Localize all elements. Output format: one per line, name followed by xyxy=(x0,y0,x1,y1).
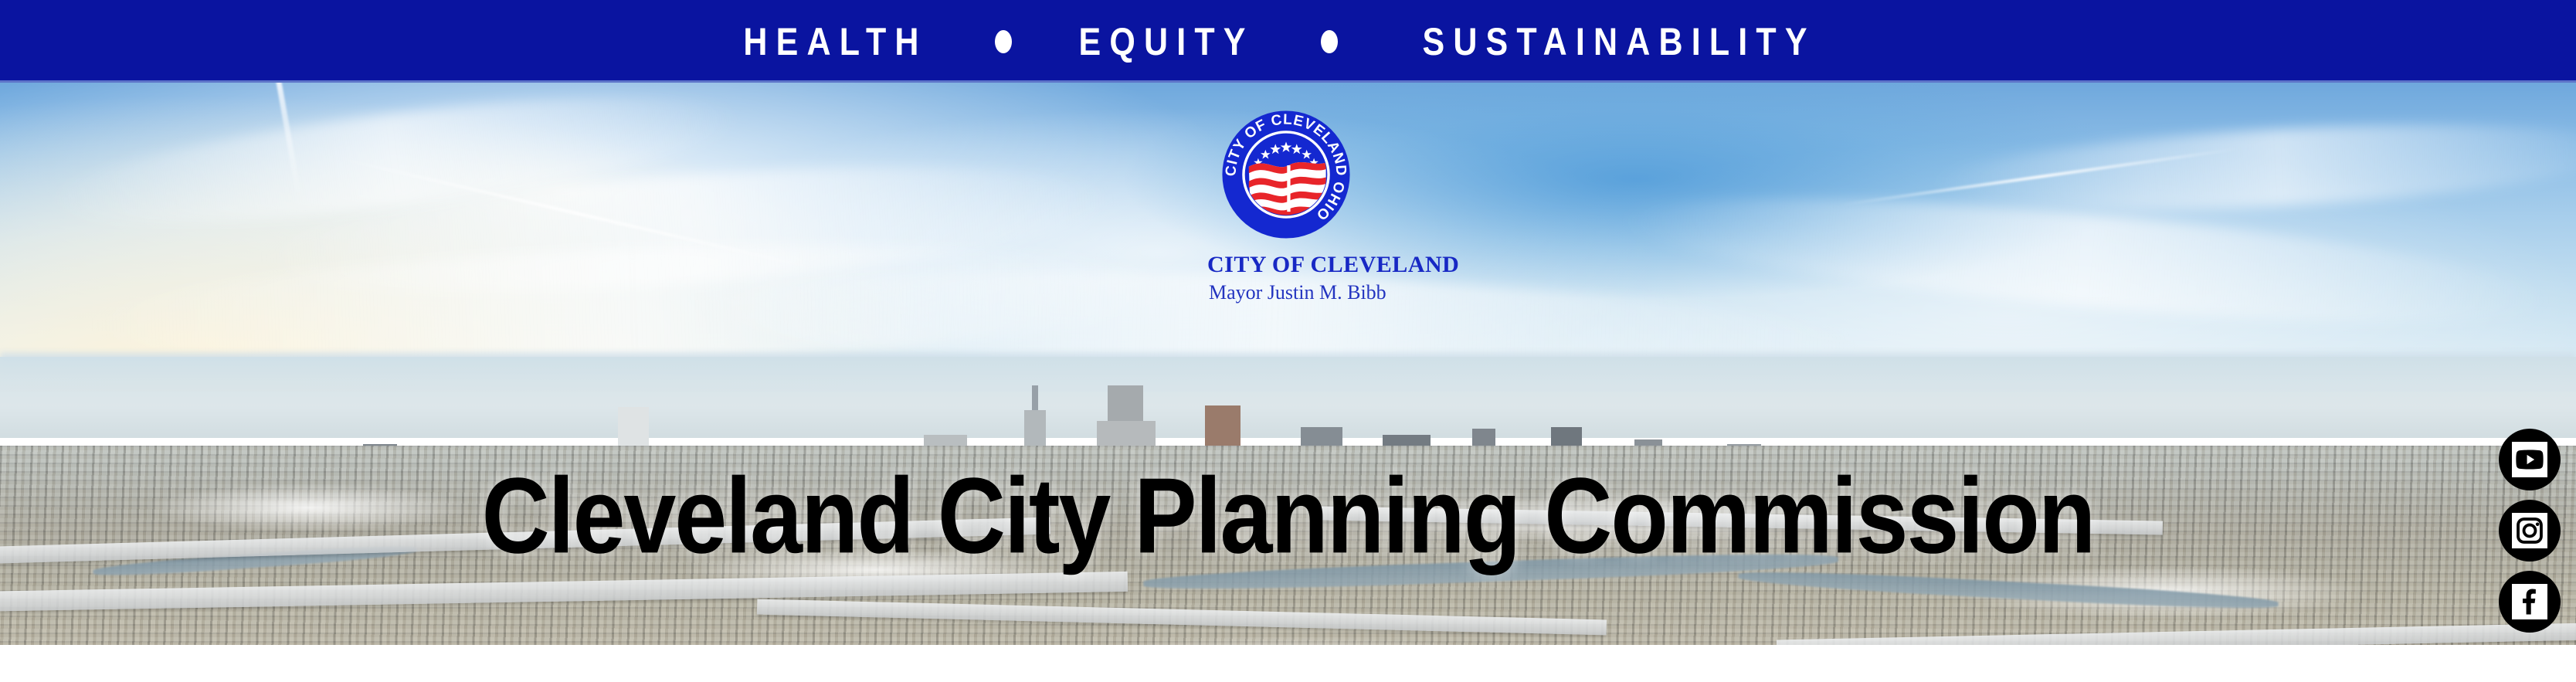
tagline-separator-dot-2 xyxy=(1321,30,1338,53)
facebook-link[interactable] xyxy=(2499,571,2561,633)
tagline-bar-underline xyxy=(0,80,2576,83)
bottom-white-strip xyxy=(0,645,2576,682)
tagline-word-health: HEALTH xyxy=(739,22,932,61)
youtube-icon xyxy=(2512,442,2547,477)
tagline-words: HEALTH EQUITY SUSTAINABILITY xyxy=(724,22,1852,61)
social-links xyxy=(2499,429,2561,633)
seal-title-city-of-cleveland: CITY OF CLEVELAND xyxy=(1207,252,1362,278)
instagram-link[interactable] xyxy=(2499,500,2561,562)
city-of-cleveland-seal-icon: CITY OF CLEVELAND OHIO xyxy=(1220,108,1352,241)
page-root: HEALTH EQUITY SUSTAINABILITY xyxy=(0,0,2576,682)
tagline-word-equity: EQUITY xyxy=(1074,22,1257,61)
seal-subtitle-mayor: Mayor Justin M. Bibb xyxy=(1209,281,1363,304)
tagline-separator-dot-1 xyxy=(995,30,1012,53)
city-seal-block: CITY OF CLEVELAND OHIO xyxy=(1209,108,1363,304)
tagline-bar: HEALTH EQUITY SUSTAINABILITY xyxy=(0,0,2576,83)
youtube-link[interactable] xyxy=(2499,429,2561,490)
instagram-icon xyxy=(2512,513,2547,548)
page-title: Cleveland City Planning Commission xyxy=(0,462,2576,569)
hero-background-photo: CITY OF CLEVELAND OHIO xyxy=(0,83,2576,645)
tagline-word-sustainability: SUSTAINABILITY xyxy=(1418,22,1820,61)
facebook-icon xyxy=(2512,584,2547,619)
